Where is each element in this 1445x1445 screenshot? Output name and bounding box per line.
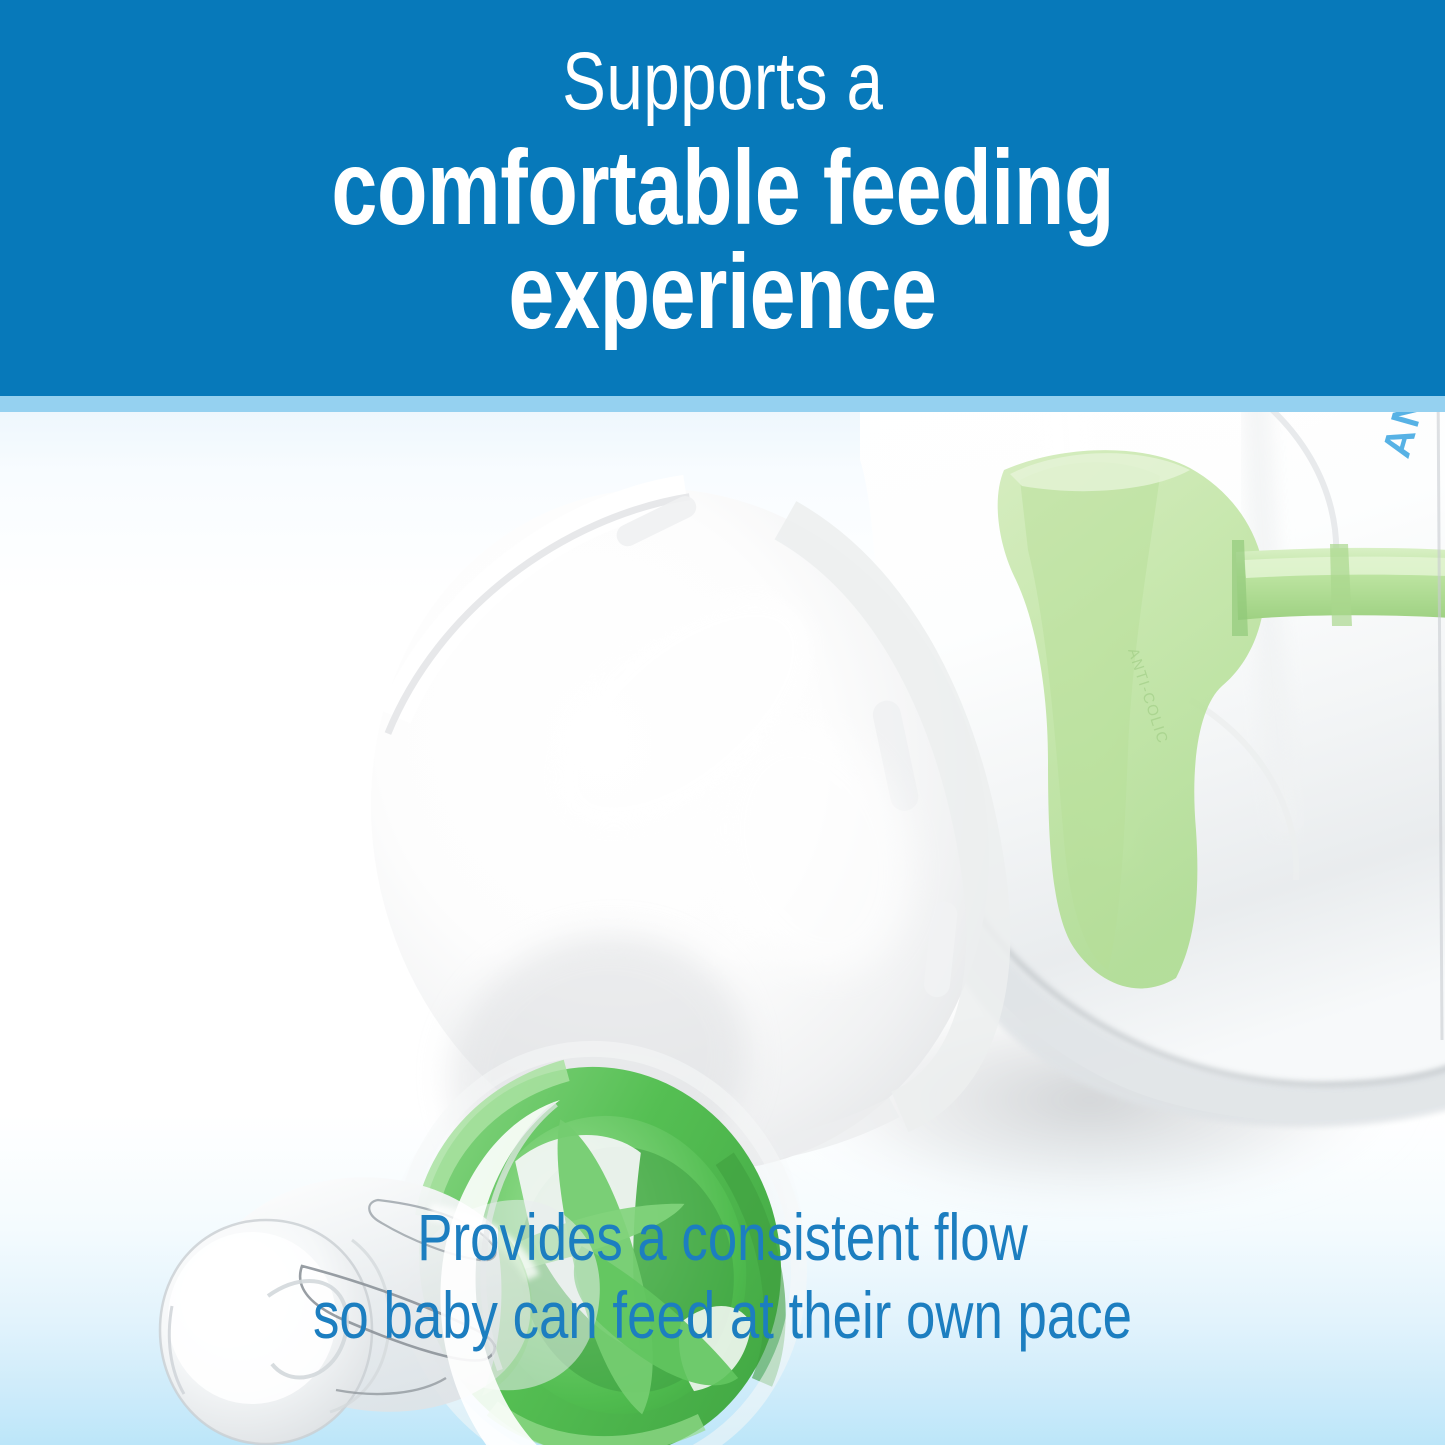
headline-line-2: comfortable feeding: [331, 132, 1114, 244]
accent-stripe: [0, 396, 1445, 412]
headline-line-1: Supports a: [562, 36, 883, 128]
headline-line-3: experience: [508, 236, 936, 348]
header-banner: Supports a comfortable feeding experienc…: [0, 0, 1445, 396]
product-photo-stage: ANTI-COLIC ANTI-C: [0, 412, 1445, 1445]
product-image: ANTI-COLIC ANTI-C: [0, 412, 1445, 1445]
product-feature-card: Supports a comfortable feeding experienc…: [0, 0, 1445, 1445]
